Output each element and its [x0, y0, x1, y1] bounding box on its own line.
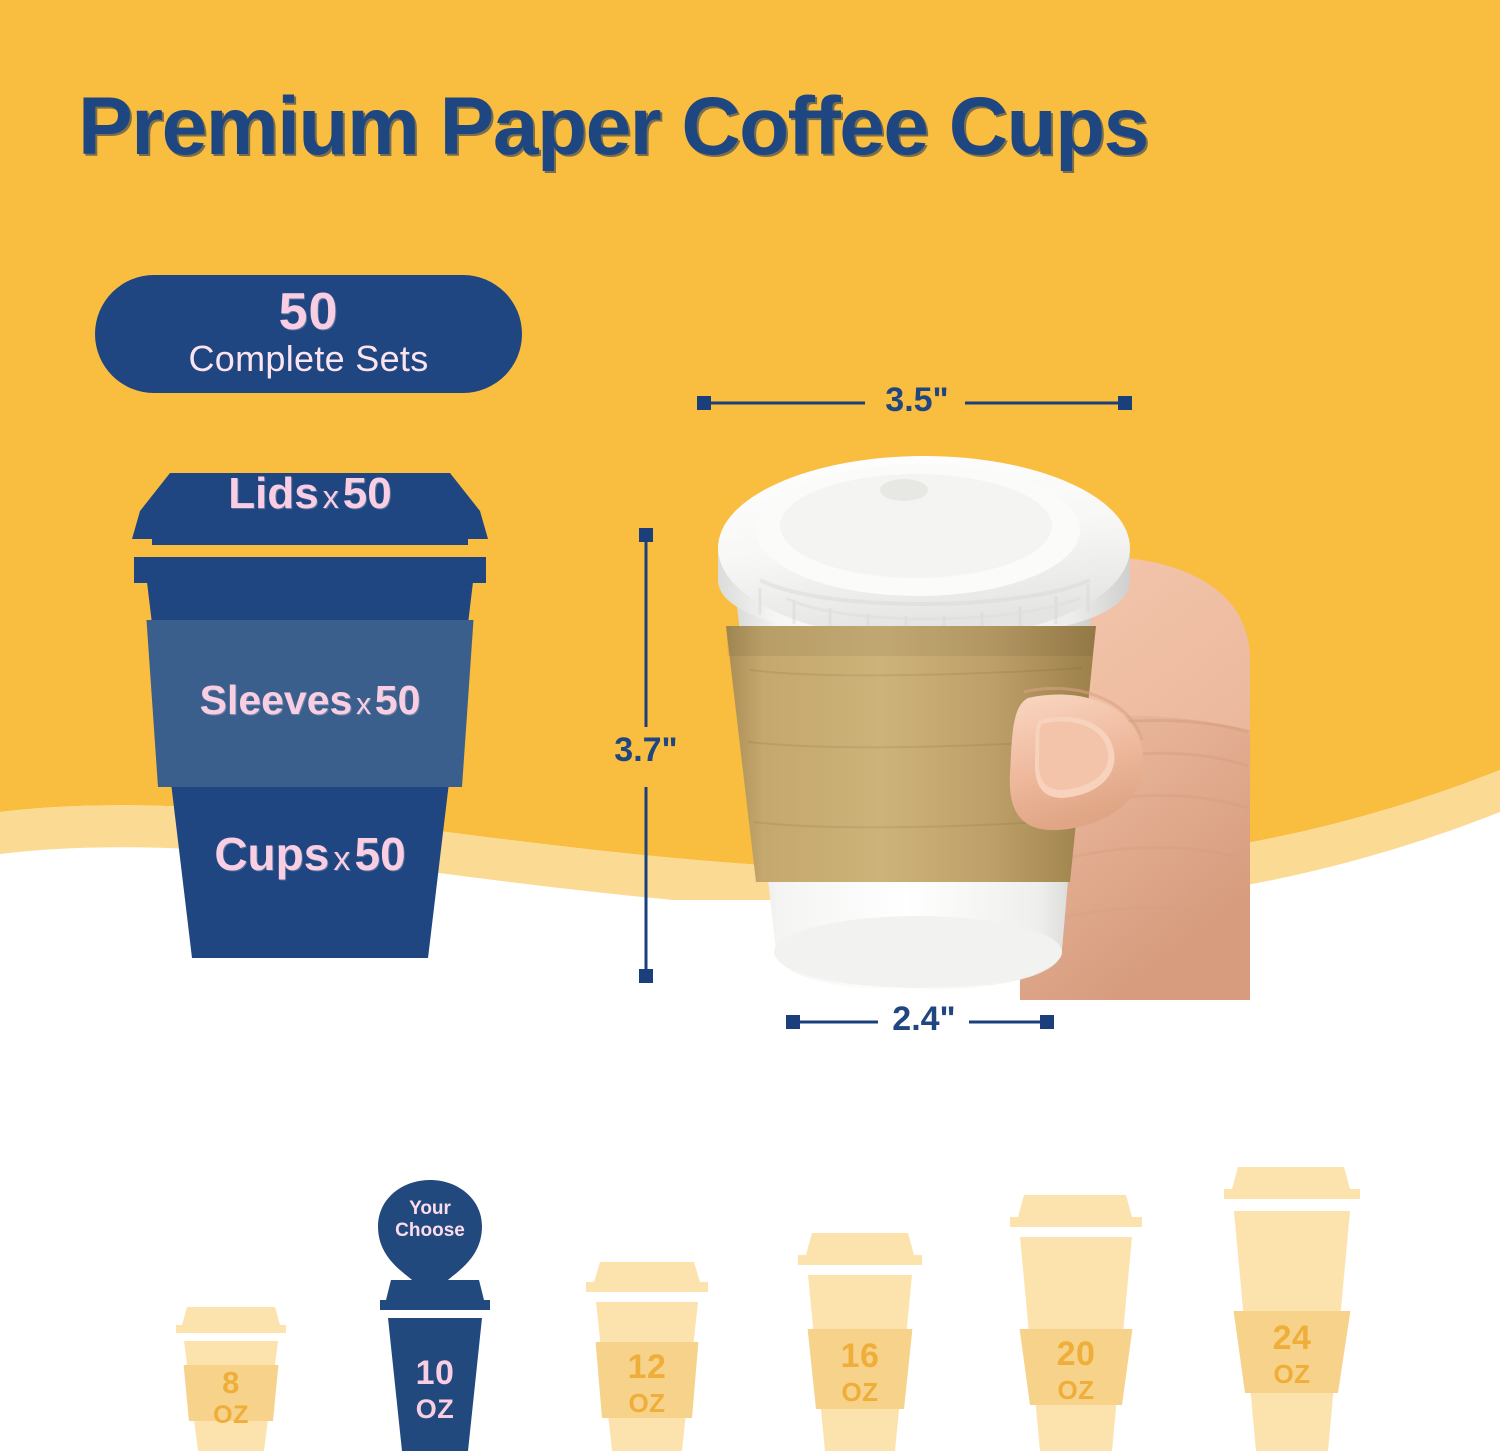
size-cup-16oz-shape — [790, 1229, 930, 1451]
badge-count: 50 — [279, 287, 339, 338]
size-selector-row: 8 OZ 10 OZ 12 OZ — [0, 1160, 1500, 1451]
size-cup-8oz-shape — [168, 1299, 294, 1451]
size-option-8oz[interactable]: 8 OZ — [168, 1299, 294, 1451]
lid-shape — [132, 473, 488, 545]
product-photo — [690, 430, 1250, 1000]
product-infographic: Premium Paper Coffee Cups 50 Complete Se… — [0, 0, 1500, 1451]
dimension-lid-diameter-label: 3.5" — [870, 381, 964, 420]
size-cup-12oz-shape — [578, 1256, 716, 1451]
size-cup-10oz-shape — [372, 1276, 498, 1451]
size-option-20oz[interactable]: 20 OZ — [1002, 1191, 1150, 1451]
dimension-cup-height: 3.7" — [628, 528, 664, 983]
sleeve-band-shape — [147, 620, 474, 787]
dimension-base-diameter-label: 2.4" — [880, 1000, 968, 1039]
size-cup-24oz-shape — [1216, 1163, 1368, 1451]
size-option-10oz[interactable]: 10 OZ — [372, 1276, 498, 1451]
size-option-24oz[interactable]: 24 OZ — [1216, 1163, 1368, 1451]
schematic-shapes — [110, 455, 510, 960]
cup-components-schematic: Lidsx50 Sleevesx50 Cupsx50 — [110, 455, 510, 960]
dimension-cup-height-label: 3.7" — [614, 731, 678, 770]
cup-base — [774, 916, 1062, 988]
size-option-16oz[interactable]: 16 OZ — [790, 1229, 930, 1451]
lid-sip-hole — [880, 479, 928, 501]
size-option-12oz[interactable]: 12 OZ — [578, 1256, 716, 1451]
badge-label: Complete Sets — [188, 340, 428, 378]
dimension-lid-diameter: 3.5" — [697, 385, 1132, 421]
complete-sets-badge: 50 Complete Sets — [95, 275, 522, 393]
page-title: Premium Paper Coffee Cups — [78, 84, 1448, 170]
cup-lid — [718, 456, 1130, 644]
size-cup-20oz-shape — [1002, 1191, 1150, 1451]
dimension-base-diameter: 2.4" — [786, 1004, 1054, 1040]
